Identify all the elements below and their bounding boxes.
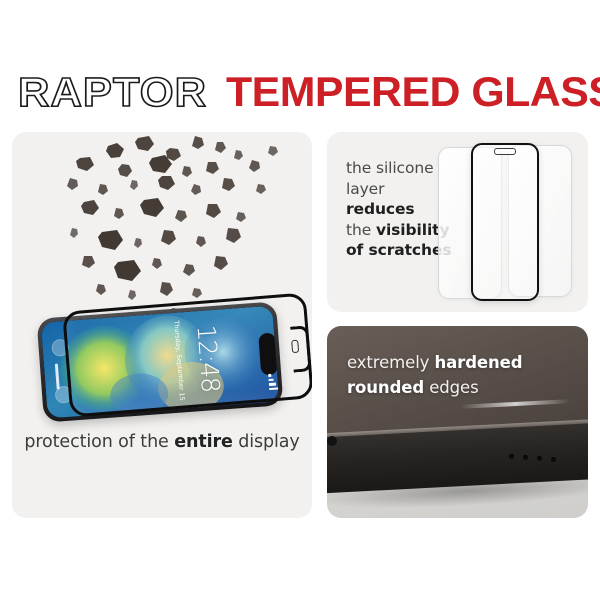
caption-main-bold: entire bbox=[174, 432, 233, 452]
edges-line-2-suffix: edges bbox=[424, 378, 479, 397]
caption-main: protection of the entire display bbox=[12, 432, 312, 452]
caption-main-suffix: display bbox=[233, 432, 300, 452]
panel-hardened-edges: extremely hardened rounded edges bbox=[327, 326, 588, 518]
caption-main-prefix: protection of the bbox=[24, 432, 174, 452]
brand-logo-raptor: RAPTOR bbox=[18, 66, 207, 118]
protector-speaker-cutout bbox=[291, 340, 299, 354]
glass-sheet-notch bbox=[494, 148, 516, 155]
silicone-line-1: the silicone bbox=[346, 158, 451, 179]
silicone-line-5: of scratches bbox=[346, 241, 451, 259]
silicone-line-4-prefix: the bbox=[346, 221, 376, 239]
caption-silicone: the silicone layer reduces the visibilit… bbox=[346, 158, 451, 261]
panel-main-display-protection: 12:48 Thursday, September 15 protection … bbox=[12, 132, 312, 518]
edges-line-1-bold: hardened bbox=[435, 353, 523, 372]
edges-line-1-prefix: extremely bbox=[347, 353, 435, 372]
silicone-line-3: reduces bbox=[346, 200, 415, 218]
glass-sheet-front bbox=[471, 143, 539, 301]
silicone-line-2: layer bbox=[346, 179, 451, 200]
phone-with-screen-protector: 12:48 Thursday, September 15 bbox=[32, 302, 294, 422]
header: RAPTOR TEMPERED GLASS bbox=[0, 66, 600, 122]
glass-sheets-illustration bbox=[438, 143, 578, 301]
edges-line-2-bold: rounded bbox=[347, 378, 424, 397]
caption-edges: extremely hardened rounded edges bbox=[347, 350, 522, 400]
tempered-glass-protector-overlay bbox=[62, 292, 312, 417]
headline-tempered-glass: TEMPERED GLASS bbox=[226, 66, 600, 118]
panel-silicone-layer: the silicone layer reduces the visibilit… bbox=[327, 132, 588, 312]
product-marketing-image: RAPTOR TEMPERED GLASS bbox=[0, 0, 600, 600]
